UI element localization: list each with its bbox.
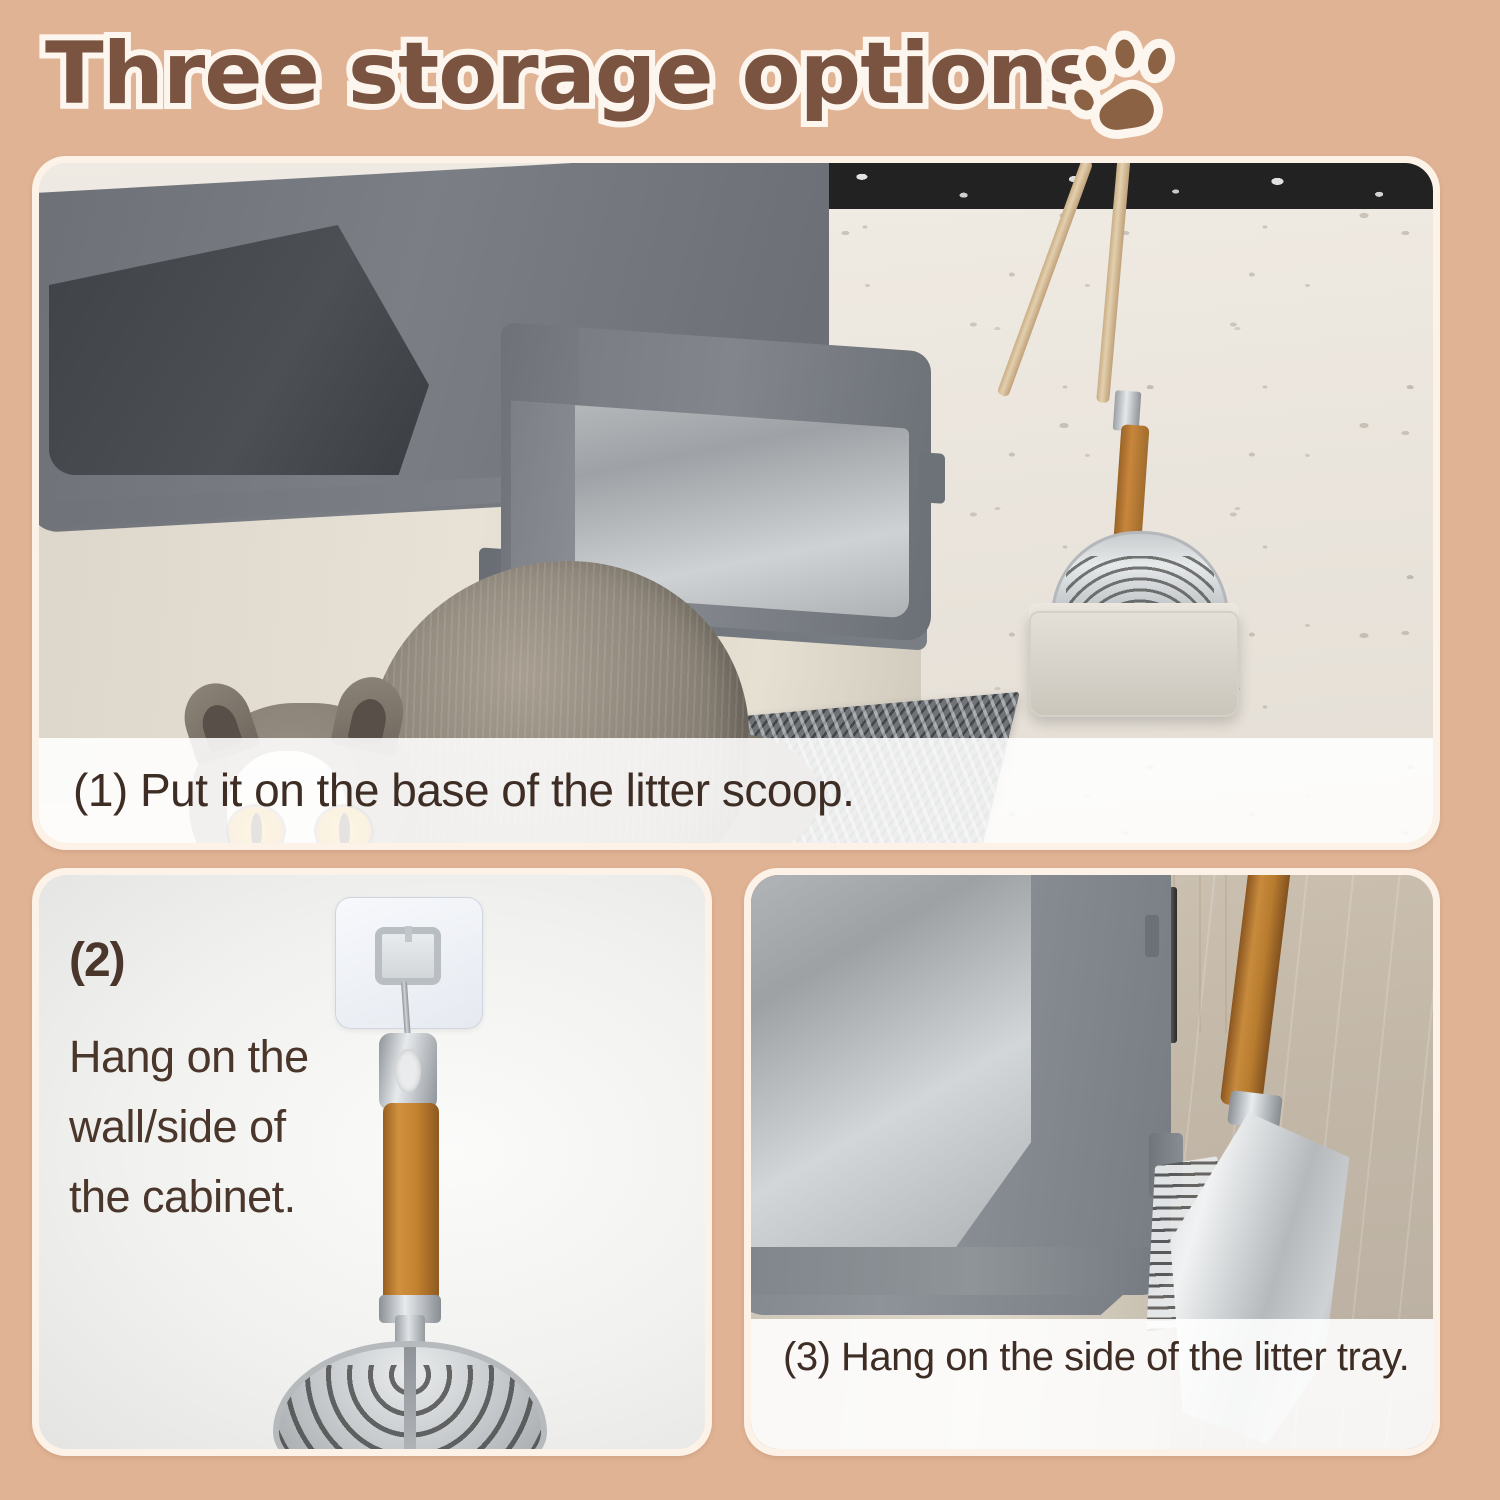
storage-option-panel-2: (2) Hang on the wall/side of the cabinet… xyxy=(32,868,712,1456)
panel-2-photo: (2) Hang on the wall/side of the cabinet… xyxy=(39,875,705,1449)
panel-2-caption: (2) Hang on the wall/side of the cabinet… xyxy=(69,933,359,1232)
storage-option-panel-3: (3) Hang on the side of the litter tray. xyxy=(744,868,1440,1456)
panel-3-caption: (3) Hang on the side of the litter tray. xyxy=(751,1319,1433,1449)
scoop-wooden-handle xyxy=(383,1103,439,1303)
scoop-hanging-eyelet xyxy=(379,1033,437,1111)
header-bar: Three storage options xyxy=(0,0,1500,150)
paw-print-icon xyxy=(1062,28,1190,140)
panel-1-photo: (1) Put it on the base of the litter sco… xyxy=(39,163,1433,843)
page-title: Three storage options xyxy=(45,24,1097,124)
panel-1-caption: (1) Put it on the base of the litter sco… xyxy=(39,738,1433,843)
caption-line: wall/side of xyxy=(69,1092,359,1162)
scoop-base-holder xyxy=(1029,611,1239,717)
adhesive-hook-clip xyxy=(375,927,441,985)
caption-line: the cabinet. xyxy=(69,1162,359,1232)
litter-tray-hinge xyxy=(1145,915,1159,957)
storage-option-panel-1: (1) Put it on the base of the litter sco… xyxy=(32,156,1440,850)
litter-tray-rim xyxy=(751,1247,1171,1295)
litter-box-right-latch xyxy=(919,452,945,504)
panel-2-option-number: (2) xyxy=(69,933,359,988)
caption-line: Hang on the xyxy=(69,1022,359,1092)
panel-3-photo: (3) Hang on the side of the litter tray. xyxy=(751,875,1433,1449)
panel-2-caption-text: Hang on the wall/side of the cabinet. xyxy=(69,1022,359,1232)
